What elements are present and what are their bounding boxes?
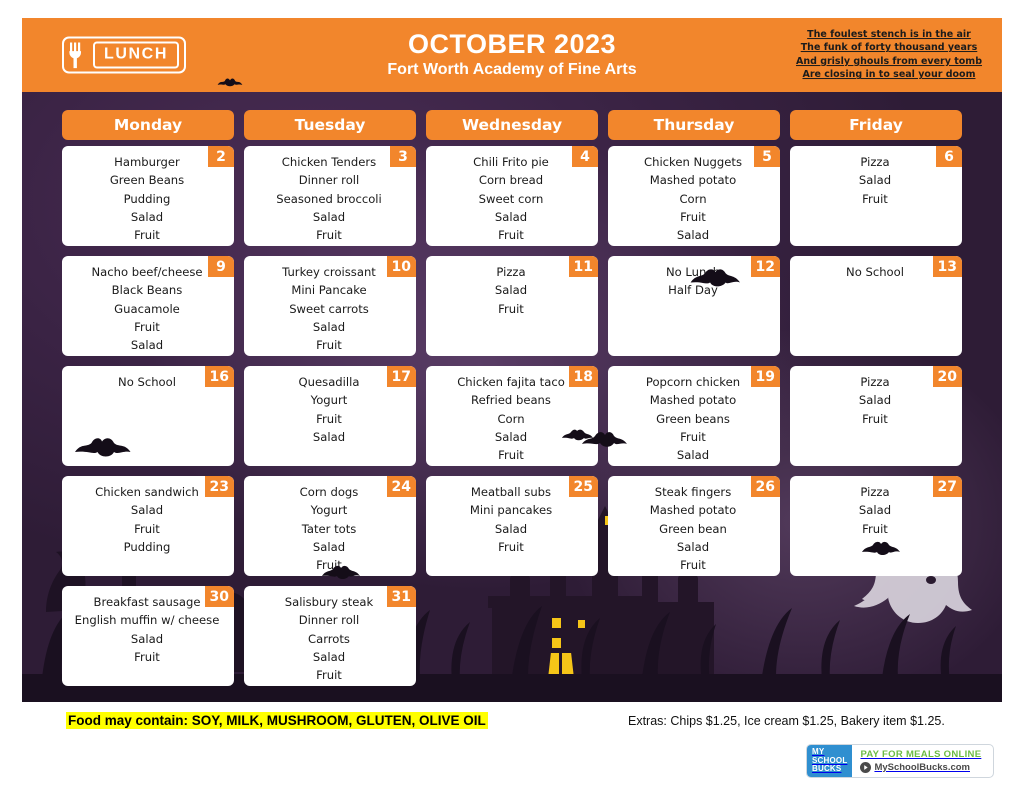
- poem-line-2: The funk of forty thousand years: [796, 42, 982, 55]
- calendar-cell-tuesday-24[interactable]: 24Corn dogsYogurtTater totsSaladFruit: [244, 476, 416, 576]
- menu-item: Fruit: [796, 190, 954, 208]
- lunch-logo-box: LUNCH: [93, 42, 179, 69]
- lunch-calendar-page: LUNCH OCTOBER 2023 Fort Worth Academy of…: [0, 0, 1024, 791]
- page-header: LUNCH OCTOBER 2023 Fort Worth Academy of…: [22, 18, 1002, 92]
- menu-item-list: HamburgerGreen BeansPuddingSaladFruit: [68, 153, 228, 245]
- calendar-cell-tuesday-17[interactable]: 17QuesadillaYogurtFruitSalad: [244, 366, 416, 466]
- poem-line-3: And grisly ghouls from every tomb: [796, 55, 982, 68]
- calendar-cell-thursday-5[interactable]: 5Chicken NuggetsMashed potatoCornFruitSa…: [608, 146, 780, 246]
- calendar-cell-empty: [426, 586, 598, 686]
- menu-item: Pizza: [796, 483, 954, 501]
- menu-item: Guacamole: [68, 300, 226, 318]
- menu-item: Chicken Nuggets: [614, 153, 772, 171]
- menu-item: Mashed potato: [614, 501, 772, 519]
- day-header-thursday: Thursday: [608, 110, 780, 140]
- day-number: 23: [205, 476, 234, 497]
- menu-item: Salad: [68, 501, 226, 519]
- calendar-grid: Monday Tuesday Wednesday Thursday Friday…: [62, 110, 962, 696]
- menu-item: Fruit: [796, 410, 954, 428]
- menu-item: Breakfast sausage: [68, 593, 226, 611]
- menu-item: Salad: [68, 208, 226, 226]
- menu-item: Green Beans: [68, 171, 226, 189]
- lunch-logo: LUNCH: [62, 37, 186, 74]
- day-number: 16: [205, 366, 234, 387]
- day-number: 6: [936, 146, 962, 167]
- lunch-logo-label: LUNCH: [104, 46, 168, 63]
- menu-item-list: Chicken TendersDinner rollSeasoned brocc…: [250, 153, 410, 245]
- menu-item: Fruit: [250, 556, 408, 574]
- menu-item: Salad: [250, 208, 408, 226]
- day-number: 4: [572, 146, 598, 167]
- menu-item: Fruit: [68, 648, 226, 666]
- menu-item: Salad: [432, 208, 590, 226]
- calendar-cell-thursday-12[interactable]: 12No LunchHalf Day: [608, 256, 780, 356]
- day-number: 3: [390, 146, 416, 167]
- menu-item: Corn: [432, 410, 590, 428]
- menu-item: No School: [796, 263, 954, 281]
- menu-item: Salad: [250, 538, 408, 556]
- fork-icon: [68, 42, 88, 68]
- menu-item: Seasoned broccoli: [250, 190, 408, 208]
- menu-item: Pudding: [68, 538, 226, 556]
- menu-item: Salisbury steak: [250, 593, 408, 611]
- menu-item: Fruit: [432, 226, 590, 244]
- day-number: 18: [569, 366, 598, 387]
- menu-item: Mini pancakes: [432, 501, 590, 519]
- calendar-cell-tuesday-31[interactable]: 31Salisbury steakDinner rollCarrotsSalad…: [244, 586, 416, 686]
- calendar-cell-wednesday-18[interactable]: 18Chicken fajita tacoRefried beansCornSa…: [426, 366, 598, 466]
- menu-item: Dinner roll: [250, 611, 408, 629]
- extras-notice: Extras: Chips $1.25, Ice cream $1.25, Ba…: [628, 714, 945, 728]
- menu-item-list: Chicken NuggetsMashed potatoCornFruitSal…: [614, 153, 774, 245]
- menu-item: Chili Frito pie: [432, 153, 590, 171]
- day-number: 2: [208, 146, 234, 167]
- play-circle-icon: [860, 762, 871, 773]
- day-number: 31: [387, 586, 416, 607]
- menu-item: Fruit: [432, 300, 590, 318]
- menu-item: Nacho beef/cheese: [68, 263, 226, 281]
- halloween-poem: The foulest stench is in the air The fun…: [796, 28, 982, 82]
- day-number: 11: [569, 256, 598, 277]
- menu-item: Yogurt: [250, 391, 408, 409]
- day-number: 5: [754, 146, 780, 167]
- calendar-cell-tuesday-10[interactable]: 10Turkey croissantMini PancakeSweet carr…: [244, 256, 416, 356]
- calendar-cell-wednesday-25[interactable]: 25Meatball subsMini pancakesSaladFruit: [426, 476, 598, 576]
- menu-item: Turkey croissant: [250, 263, 408, 281]
- day-number: 30: [205, 586, 234, 607]
- menu-item: Corn dogs: [250, 483, 408, 501]
- day-number: 19: [751, 366, 780, 387]
- menu-item: Salad: [432, 428, 590, 446]
- allergen-notice: Food may contain: SOY, MILK, MUSHROOM, G…: [66, 712, 488, 729]
- menu-item: Fruit: [432, 538, 590, 556]
- day-number: 26: [751, 476, 780, 497]
- poem-line-1: The foulest stench is in the air: [796, 28, 982, 41]
- menu-item: Green beans: [614, 410, 772, 428]
- menu-item: Pudding: [68, 190, 226, 208]
- calendar-cell-thursday-19[interactable]: 19Popcorn chickenMashed potatoGreen bean…: [608, 366, 780, 466]
- day-number: 24: [387, 476, 416, 497]
- menu-item: Refried beans: [432, 391, 590, 409]
- calendar-cell-tuesday-3[interactable]: 3Chicken TendersDinner rollSeasoned broc…: [244, 146, 416, 246]
- calendar-cell-empty: [608, 586, 780, 686]
- calendar-cell-monday-23[interactable]: 23Chicken sandwichSaladFruitPudding: [62, 476, 234, 576]
- day-number: 17: [387, 366, 416, 387]
- menu-item: Fruit: [250, 666, 408, 684]
- day-number: 25: [569, 476, 598, 497]
- menu-item: Quesadilla: [250, 373, 408, 391]
- day-number: 10: [387, 256, 416, 277]
- menu-item: Salad: [250, 318, 408, 336]
- menu-item: Salad: [250, 428, 408, 446]
- poem-line-4: Are closing in to seal your doom: [796, 68, 982, 81]
- menu-item: Salad: [614, 538, 772, 556]
- menu-item-list: Chili Frito pieCorn breadSweet cornSalad…: [432, 153, 592, 245]
- menu-item: Salad: [432, 281, 590, 299]
- calendar-cell-friday-27[interactable]: 27PizzaSaladFruit: [790, 476, 962, 576]
- menu-item: Corn: [614, 190, 772, 208]
- calendar-cell-monday-2[interactable]: 2HamburgerGreen BeansPuddingSaladFruit: [62, 146, 234, 246]
- menu-item: Black Beans: [68, 281, 226, 299]
- menu-item: Yogurt: [250, 501, 408, 519]
- day-number: 20: [933, 366, 962, 387]
- menu-item: Steak fingers: [614, 483, 772, 501]
- menu-item: Chicken Tenders: [250, 153, 408, 171]
- menu-item: Salad: [796, 391, 954, 409]
- msb-tagline: PAY FOR MEALS ONLINE: [860, 749, 993, 760]
- menu-item: Salad: [796, 171, 954, 189]
- menu-item: Salad: [68, 630, 226, 648]
- menu-item: Pizza: [432, 263, 590, 281]
- msb-url-row: MySchoolBucks.com: [860, 762, 993, 773]
- menu-item: Fruit: [614, 428, 772, 446]
- menu-item: Mashed potato: [614, 391, 772, 409]
- menu-item: Hamburger: [68, 153, 226, 171]
- menu-item: Tater tots: [250, 520, 408, 538]
- day-header-tuesday: Tuesday: [244, 110, 416, 140]
- menu-item-list: Nacho beef/cheeseBlack BeansGuacamoleFru…: [68, 263, 228, 355]
- menu-item: Green bean: [614, 520, 772, 538]
- menu-item: Fruit: [614, 208, 772, 226]
- menu-item: Fruit: [68, 226, 226, 244]
- menu-item: Fruit: [68, 318, 226, 336]
- menu-item: Salad: [796, 501, 954, 519]
- calendar-cell-monday-30[interactable]: 30Breakfast sausageEnglish muffin w/ che…: [62, 586, 234, 686]
- msb-url: MySchoolBucks.com: [874, 762, 970, 773]
- menu-item: English muffin w/ cheese: [68, 611, 226, 629]
- menu-item: Salad: [432, 520, 590, 538]
- menu-item: Fruit: [68, 520, 226, 538]
- calendar-cell-monday-16[interactable]: 16No School: [62, 366, 234, 466]
- menu-item-list: PizzaSaladFruit: [796, 153, 956, 208]
- calendar-cell-friday-20[interactable]: 20PizzaSaladFruit: [790, 366, 962, 466]
- myschoolbucks-logo: MY SCHOOL BUCKS: [807, 745, 852, 777]
- day-number: 9: [208, 256, 234, 277]
- day-header-monday: Monday: [62, 110, 234, 140]
- calendar-cell-thursday-26[interactable]: 26Steak fingersMashed potatoGreen beanSa…: [608, 476, 780, 576]
- menu-item: Sweet carrots: [250, 300, 408, 318]
- menu-item: Salad: [250, 648, 408, 666]
- menu-item: Fruit: [250, 226, 408, 244]
- msb-line-3: BUCKS: [812, 765, 847, 774]
- menu-item: Chicken fajita taco: [432, 373, 590, 391]
- menu-item: Mashed potato: [614, 171, 772, 189]
- calendar-cell-wednesday-4[interactable]: 4Chili Frito pieCorn breadSweet cornSala…: [426, 146, 598, 246]
- menu-item: Fruit: [432, 446, 590, 464]
- menu-item: Salad: [68, 336, 226, 354]
- calendar-cell-friday-13[interactable]: 13No School: [790, 256, 962, 356]
- menu-item: Popcorn chicken: [614, 373, 772, 391]
- menu-item: Fruit: [250, 410, 408, 428]
- menu-item: Salad: [614, 226, 772, 244]
- myschoolbucks-banner[interactable]: MY SCHOOL BUCKS PAY FOR MEALS ONLINE MyS…: [806, 744, 994, 778]
- day-number: 13: [933, 256, 962, 277]
- menu-item: Mini Pancake: [250, 281, 408, 299]
- menu-item: Half Day: [614, 281, 772, 299]
- bat-icon: [217, 76, 243, 90]
- menu-item: Carrots: [250, 630, 408, 648]
- menu-item: Meatball subs: [432, 483, 590, 501]
- menu-item: No School: [68, 373, 226, 391]
- calendar-cell-friday-6[interactable]: 6PizzaSaladFruit: [790, 146, 962, 246]
- menu-item: Chicken sandwich: [68, 483, 226, 501]
- calendar-cell-empty: [790, 586, 962, 686]
- day-number: 12: [751, 256, 780, 277]
- day-header-friday: Friday: [790, 110, 962, 140]
- menu-item: Fruit: [250, 336, 408, 354]
- menu-item: Dinner roll: [250, 171, 408, 189]
- calendar-cell-wednesday-11[interactable]: 11PizzaSaladFruit: [426, 256, 598, 356]
- myschoolbucks-text: PAY FOR MEALS ONLINE MySchoolBucks.com: [852, 745, 993, 777]
- menu-item: Fruit: [614, 556, 772, 574]
- menu-item: Fruit: [796, 520, 954, 538]
- calendar-board: Monday Tuesday Wednesday Thursday Friday…: [22, 92, 1002, 702]
- menu-item: Corn bread: [432, 171, 590, 189]
- menu-item: No Lunch: [614, 263, 772, 281]
- day-number: 27: [933, 476, 962, 497]
- calendar-cell-monday-9[interactable]: 9Nacho beef/cheeseBlack BeansGuacamoleFr…: [62, 256, 234, 356]
- day-header-wednesday: Wednesday: [426, 110, 598, 140]
- menu-item: Pizza: [796, 373, 954, 391]
- menu-item: Salad: [614, 446, 772, 464]
- menu-item: Sweet corn: [432, 190, 590, 208]
- menu-item: Pizza: [796, 153, 954, 171]
